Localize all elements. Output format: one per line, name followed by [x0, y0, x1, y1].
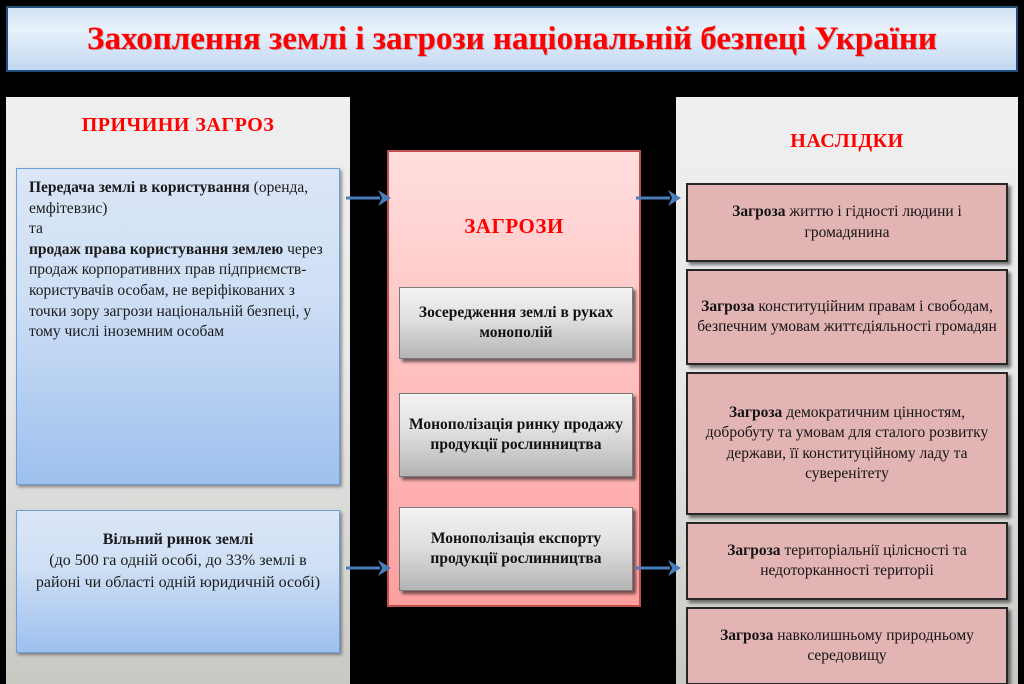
arrow-right-icon [346, 558, 392, 578]
causes-panel: ПРИЧИНИ ЗАГРОЗ Передача землі в користув… [6, 97, 350, 684]
causes-heading: ПРИЧИНИ ЗАГРОЗ [6, 114, 350, 137]
consequence-constitutional-rights-box[interactable]: Загроза конституційним правам і свободам… [686, 269, 1008, 365]
arrow-right-icon [346, 188, 392, 208]
consequence-3-lead: Загроза [729, 404, 782, 421]
threat-2-label: Монополізація ринку продажу продукції ро… [408, 415, 624, 455]
title-bar: Захоплення землі і загрози національній … [6, 6, 1018, 72]
threat-3-label: Монополізація експорту продукції рослинн… [408, 529, 624, 569]
threat-land-concentration-box[interactable]: Зосередження землі в руках монополій [399, 287, 633, 359]
page-title: Захоплення землі і загрози національній … [87, 21, 937, 58]
cause-free-land-market-box[interactable]: Вільний ринок землі (до 500 га одній осо… [16, 510, 340, 653]
consequence-2-lead: Загроза [701, 298, 754, 315]
threat-1-label: Зосередження землі в руках монополій [408, 303, 624, 343]
consequence-territorial-integrity-box[interactable]: Загроза територіальнії цілісності та нед… [686, 522, 1008, 600]
consequences-panel: НАСЛІДКИ Загроза життю і гідності людини… [676, 97, 1018, 684]
cause-1-lead: Передача землі в користування [29, 179, 254, 196]
consequence-4-lead: Загроза [727, 542, 780, 559]
consequence-4-rest: територіальнії цілісності та недоторканн… [760, 542, 967, 579]
cause-1-conjunction: та [29, 220, 43, 237]
cause-2-title: Вільний ринок землі [31, 529, 325, 550]
consequence-5-lead: Загроза [720, 627, 773, 644]
consequence-environment-box[interactable]: Загроза навколишньому природньому середо… [686, 607, 1008, 684]
consequences-heading: НАСЛІДКИ [676, 130, 1018, 153]
cause-transfer-of-land-box[interactable]: Передача землі в користування (оренда, е… [16, 168, 340, 485]
cause-2-detail: (до 500 га одній особі, до 33% землі в р… [31, 550, 325, 593]
threats-heading: ЗАГРОЗИ [389, 214, 639, 239]
threats-panel: ЗАГРОЗИ Зосередження землі в руках моноп… [387, 150, 641, 607]
cause-1-lead-2: продаж права користування землею [29, 241, 287, 258]
consequence-5-rest: навколишньому природньому середовищу [773, 627, 974, 664]
consequence-life-dignity-box[interactable]: Загроза життю і гідності людини і громад… [686, 183, 1008, 262]
consequence-1-lead: Загроза [732, 203, 785, 220]
consequence-1-rest: життю і гідності людини і громадянина [785, 203, 961, 240]
threat-market-monopolisation-box[interactable]: Монополізація ринку продажу продукції ро… [399, 393, 633, 477]
threat-export-monopolisation-box[interactable]: Монополізація експорту продукції рослинн… [399, 507, 633, 591]
consequence-democratic-values-box[interactable]: Загроза демократичним цінностям, добробу… [686, 372, 1008, 515]
